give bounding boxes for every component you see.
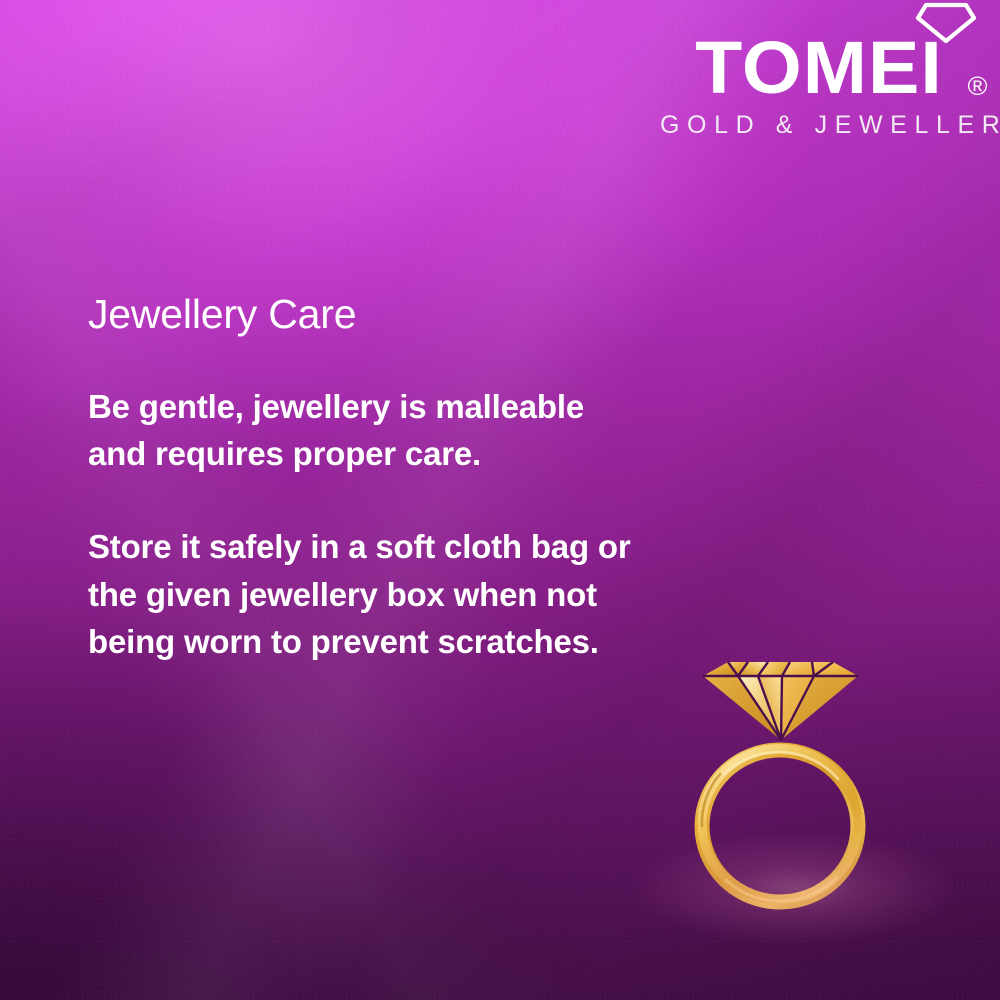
gold-diamond-icon <box>703 662 858 740</box>
brand-logo: TOMEI ® GOLD & JEWELLERY <box>654 0 984 140</box>
diamond-ring-illustration <box>690 640 890 940</box>
brand-wordmark-text: TOMEI <box>695 26 943 109</box>
jewellery-care-poster: TOMEI ® GOLD & JEWELLERY Jewellery Care … <box>0 0 1000 1000</box>
ring-artwork-svg <box>690 640 890 940</box>
page-title: Jewellery Care <box>88 292 648 337</box>
brand-tagline: GOLD & JEWELLERY <box>654 111 984 140</box>
care-tip-paragraph: Store it safely in a soft cloth bag or t… <box>88 523 648 665</box>
brand-wordmark: TOMEI ® <box>647 0 990 105</box>
registered-trademark-icon: ® <box>968 73 989 99</box>
care-tip-paragraph: Be gentle, jewellery is malleable and re… <box>88 383 648 477</box>
gold-ring-band-icon <box>702 749 858 903</box>
copy-block: Jewellery Care Be gentle, jewellery is m… <box>88 292 648 665</box>
